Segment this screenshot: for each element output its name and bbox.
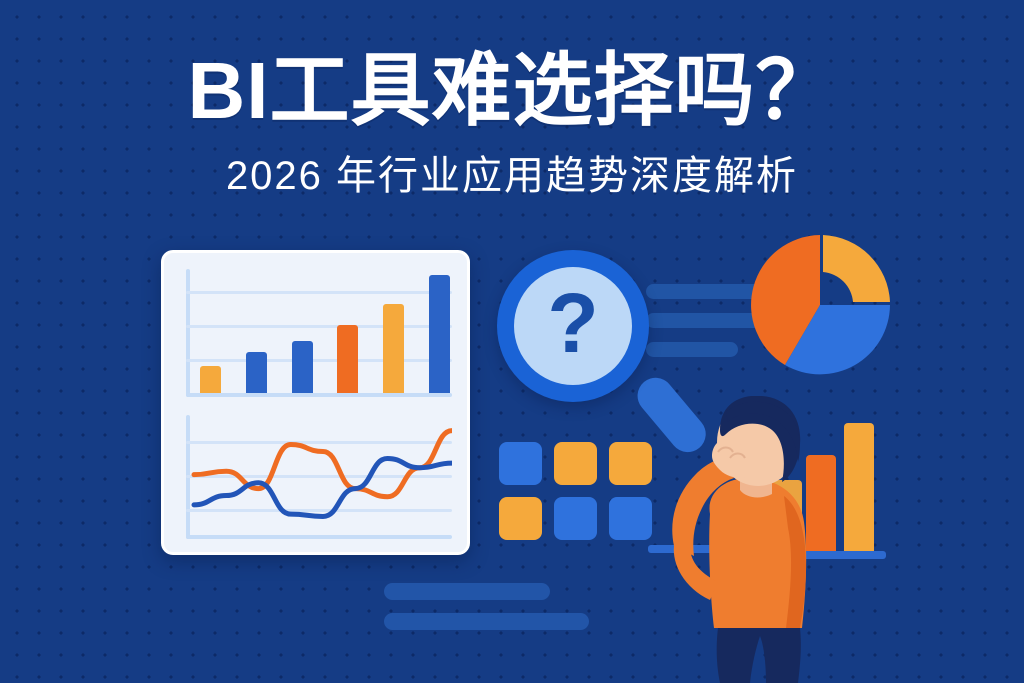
tiles-grid [499,442,652,540]
page-title: BI工具难选择吗？ [0,48,1024,134]
series-blue [194,458,452,516]
question-mark-glyph: ? [497,250,649,402]
bar-5 [383,304,404,393]
thinking-person [648,396,848,683]
tile-r1-c1 [499,442,542,485]
poster-canvas: BI工具难选择吗？ 2026 年行业应用趋势深度解析 ? [0,0,1024,683]
decoration-bar [384,613,589,630]
bar-series [200,269,450,393]
tile-r1-c3 [609,442,652,485]
bar-2 [246,352,267,393]
pie-slice-amber-donut [823,235,890,302]
bar-chart [186,269,452,397]
bar-chart-x-axis [186,393,452,397]
analytics-dashboard-card [161,250,470,555]
background-bar-amber [844,423,874,555]
page-subtitle: 2026 年行业应用趋势深度解析 [0,152,1024,200]
line-chart [186,415,452,539]
tile-r2-c1 [499,497,542,540]
decoration-bar [384,583,550,600]
line-series-svg [186,415,452,539]
magnifier-icon: ? [497,250,649,402]
bar-6 [429,275,450,393]
bar-4 [337,325,358,393]
tile-r2-c3 [609,497,652,540]
bar-3 [292,341,313,393]
tile-r1-c2 [554,442,597,485]
headline-block: BI工具难选择吗？ 2026 年行业应用趋势深度解析 [0,48,1024,200]
person-pants [717,628,801,683]
speed-line [646,342,738,357]
tile-r2-c2 [554,497,597,540]
bar-chart-y-axis [186,269,190,397]
bar-1 [200,366,221,393]
pie-chart [745,230,895,380]
series-orange [194,431,452,497]
